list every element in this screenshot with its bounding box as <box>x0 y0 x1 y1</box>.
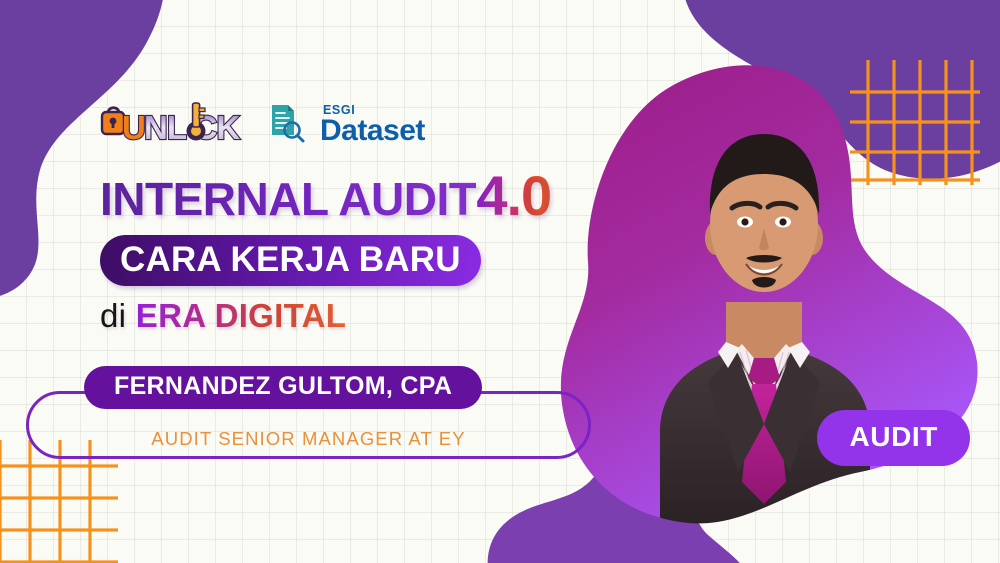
headline-line-3: di ERA DIGITAL <box>100 299 620 332</box>
promo-banner: U NL CK <box>0 0 1000 563</box>
headline-line3-prefix: di <box>100 297 126 334</box>
dataset-wordmark: Dataset <box>320 114 425 147</box>
headline-main-text: INTERNAL AUDIT <box>100 176 476 222</box>
esgi-dataset-logo-mark: ESGI Dataset <box>268 99 443 147</box>
unlock-logo[interactable]: U NL CK <box>100 100 246 146</box>
logo-row: U NL CK <box>100 96 443 150</box>
speaker-name-pill: FERNANDEZ GULTOM, CPA <box>84 366 482 409</box>
headline-line-1: INTERNAL AUDIT 4.0 <box>100 168 620 224</box>
headline-line3-accent: ERA DIGITAL <box>136 297 346 334</box>
headline-block: INTERNAL AUDIT 4.0 CARA KERJA BARU di ER… <box>100 168 620 332</box>
headline-subtitle-pill: CARA KERJA BARU <box>100 235 481 286</box>
document-search-icon <box>272 105 303 141</box>
esgi-dataset-logo[interactable]: ESGI Dataset <box>268 99 443 147</box>
svg-text:U: U <box>122 109 146 146</box>
speaker-block: AUDIT SENIOR MANAGER AT EY FERNANDEZ GUL… <box>26 391 591 459</box>
unlock-logo-mark: U NL CK <box>100 100 246 146</box>
headline-version-text: 4.0 <box>476 168 551 224</box>
speaker-role: AUDIT SENIOR MANAGER AT EY <box>26 428 591 450</box>
audit-badge: AUDIT <box>817 410 970 466</box>
